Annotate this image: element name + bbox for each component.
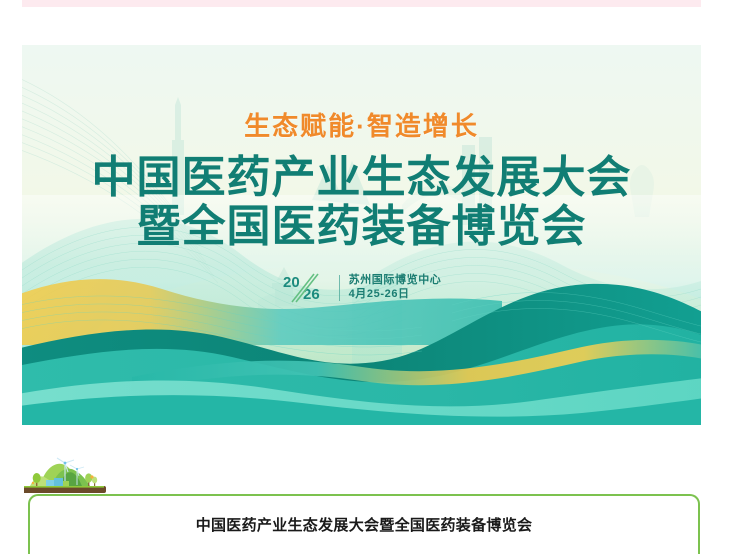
year-logo-2026: 20 26: [282, 272, 330, 304]
bottom-info-card: 中国医药产业生态发展大会暨全国医药装备博览会: [28, 494, 700, 554]
svg-text:20: 20: [283, 274, 300, 291]
banner-title-line-2: 暨全国医药装备博览会: [22, 204, 701, 251]
venue-date: 4月25-26日: [349, 288, 442, 302]
venue-info: 苏州国际博览中心 4月25-26日: [349, 274, 442, 302]
venue-divider: [339, 275, 340, 301]
banner-venue-row: 20 26 苏州国际博览中心 4月25-26日: [22, 272, 701, 304]
eco-landscape-illustration: [24, 456, 108, 496]
banner-title-line-1: 中国医药产业生态发展大会: [22, 155, 701, 202]
bottom-card-title: 中国医药产业生态发展大会暨全国医药装备博览会: [30, 514, 698, 535]
banner-tagline: 生态赋能·智造增长: [22, 113, 701, 139]
venue-name: 苏州国际博览中心: [349, 274, 442, 288]
banner-text-block: 生态赋能·智造增长 中国医药产业生态发展大会 暨全国医药装备博览会 20 26: [22, 45, 701, 304]
top-accent-strip: [22, 0, 701, 7]
svg-text:26: 26: [303, 286, 320, 303]
year-logo-icon: 20 26: [282, 272, 330, 304]
event-banner: 生态赋能·智造增长 中国医药产业生态发展大会 暨全国医药装备博览会 20 26: [22, 45, 701, 425]
